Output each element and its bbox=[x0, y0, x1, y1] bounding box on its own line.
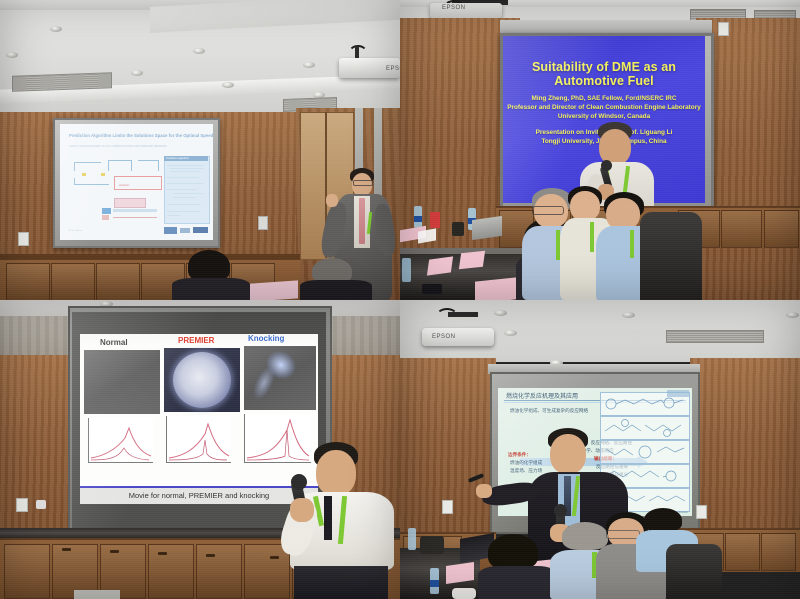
downlight-icon bbox=[786, 312, 799, 318]
graph-curve bbox=[89, 418, 153, 462]
projector bbox=[430, 3, 502, 18]
combustion-image-premier bbox=[164, 348, 240, 412]
slide-footer: Dr. M. Lederer bbox=[68, 230, 82, 232]
glasses bbox=[353, 180, 373, 186]
timeline-bar bbox=[114, 198, 146, 208]
road-segment bbox=[74, 178, 109, 185]
hand bbox=[326, 194, 338, 207]
projector-brand-label: EPSON bbox=[386, 66, 400, 72]
downlight-icon bbox=[222, 82, 234, 88]
timeline-marker bbox=[102, 215, 109, 220]
projector-mount bbox=[448, 312, 478, 317]
pink-document bbox=[250, 280, 298, 300]
projector-brand-label: EPSON bbox=[442, 5, 466, 11]
column-label-normal: Normal bbox=[100, 338, 128, 347]
box-item bbox=[430, 212, 440, 228]
column-label-knocking: Knocking bbox=[248, 334, 284, 343]
chair bbox=[640, 212, 702, 300]
microphone-head bbox=[601, 160, 612, 171]
logo bbox=[164, 227, 177, 234]
slide-top-left: Prediction Algorithm Limits the Solution… bbox=[60, 124, 213, 240]
trousers bbox=[294, 566, 388, 599]
downlight-icon bbox=[494, 310, 507, 316]
road-annotation: prediction bbox=[119, 184, 129, 187]
wall-outlet bbox=[18, 232, 29, 246]
lanyard bbox=[590, 222, 594, 252]
wall-outlet bbox=[718, 22, 729, 36]
timeline-track bbox=[113, 217, 157, 218]
audience-member bbox=[478, 534, 558, 599]
wall-outlet bbox=[16, 498, 28, 512]
panel-bottom-right: EPSON 燃烧化学反应机理及其应用 燃油化学组成、可生成复杂的反应网络 组分、… bbox=[400, 300, 800, 599]
slide-subtitle: SHORT HORIZON BASED ON V2X COMMUNICATION… bbox=[69, 145, 167, 148]
bullet-panel-title: Prediction algorithm bbox=[166, 157, 189, 160]
panel-top-left: EPSON Prediction Algorithm Limits the So… bbox=[0, 0, 400, 300]
bullet-panel bbox=[164, 156, 210, 224]
pressure-graph-premier bbox=[166, 416, 231, 463]
water-bottle bbox=[402, 258, 411, 282]
glasses bbox=[606, 530, 640, 539]
screen-valance bbox=[500, 20, 712, 34]
downlight-icon bbox=[131, 70, 143, 76]
signal-marker bbox=[82, 173, 86, 176]
pressure-graph-normal bbox=[88, 418, 153, 463]
audience-member bbox=[172, 250, 250, 300]
logo bbox=[180, 228, 190, 233]
downlight-icon bbox=[50, 26, 62, 32]
road-segment bbox=[138, 160, 159, 171]
graph-curve bbox=[167, 416, 231, 462]
highlight-box bbox=[114, 176, 162, 190]
cabinet-top bbox=[0, 254, 300, 259]
downlight-icon bbox=[303, 62, 315, 68]
road-segment bbox=[74, 162, 101, 171]
bottle-label bbox=[430, 580, 439, 587]
laptop bbox=[472, 216, 502, 240]
cup bbox=[452, 588, 476, 599]
road-segment bbox=[108, 160, 132, 171]
downlight-icon bbox=[193, 48, 205, 54]
microphone-head bbox=[554, 504, 567, 517]
signal-marker bbox=[101, 173, 105, 176]
dme-slide-title: Suitability of DME as an Automotive Fuel bbox=[503, 60, 705, 88]
desk-device bbox=[452, 222, 464, 236]
wall-fitting bbox=[36, 500, 46, 509]
bottle-label bbox=[414, 216, 422, 222]
downlight-icon bbox=[504, 330, 517, 336]
wall-switch bbox=[258, 216, 268, 230]
wall-outlet bbox=[442, 500, 453, 514]
microphone-head bbox=[291, 474, 307, 490]
logo bbox=[193, 227, 208, 233]
projector-brand-label: EPSON bbox=[432, 334, 456, 340]
water-bottle bbox=[408, 528, 416, 550]
panel-bottom-left: Normal PREMIER Knocking bbox=[0, 300, 400, 599]
air-vent bbox=[666, 330, 764, 343]
timeline-track bbox=[113, 209, 157, 212]
lanyard bbox=[630, 230, 634, 258]
slide-logo bbox=[667, 390, 689, 397]
slide-title: Prediction Algorithm Limits the Solution… bbox=[69, 133, 213, 138]
slide-title: 燃烧化学反应机理及其应用 bbox=[506, 391, 578, 400]
combustion-image-knocking bbox=[244, 346, 316, 410]
downlight-icon bbox=[622, 312, 635, 318]
chair bbox=[666, 544, 722, 599]
name-card bbox=[459, 251, 485, 270]
phone bbox=[422, 284, 442, 294]
audience-member bbox=[300, 258, 372, 300]
column-label-premier: PREMIER bbox=[178, 336, 214, 345]
desk-device bbox=[420, 536, 444, 554]
panel-top-right: EPSON Suitability of DME as an Automotiv… bbox=[400, 0, 800, 300]
slide-body-line: 燃油化学组成、可生成复杂的反应网络 bbox=[510, 408, 588, 414]
hand bbox=[476, 484, 492, 498]
timeline-marker bbox=[102, 208, 111, 214]
downlight-icon bbox=[6, 52, 18, 58]
combustion-image-normal bbox=[84, 350, 160, 414]
photo-collage: EPSON Prediction Algorithm Limits the So… bbox=[0, 0, 800, 599]
floor-object bbox=[74, 590, 120, 599]
projection-screen-frame: Prediction Algorithm Limits the Solution… bbox=[53, 118, 220, 248]
hand bbox=[290, 498, 314, 522]
speaker bbox=[278, 442, 400, 599]
dme-presenter-line-3: University of Windsor, Canada bbox=[503, 112, 705, 122]
